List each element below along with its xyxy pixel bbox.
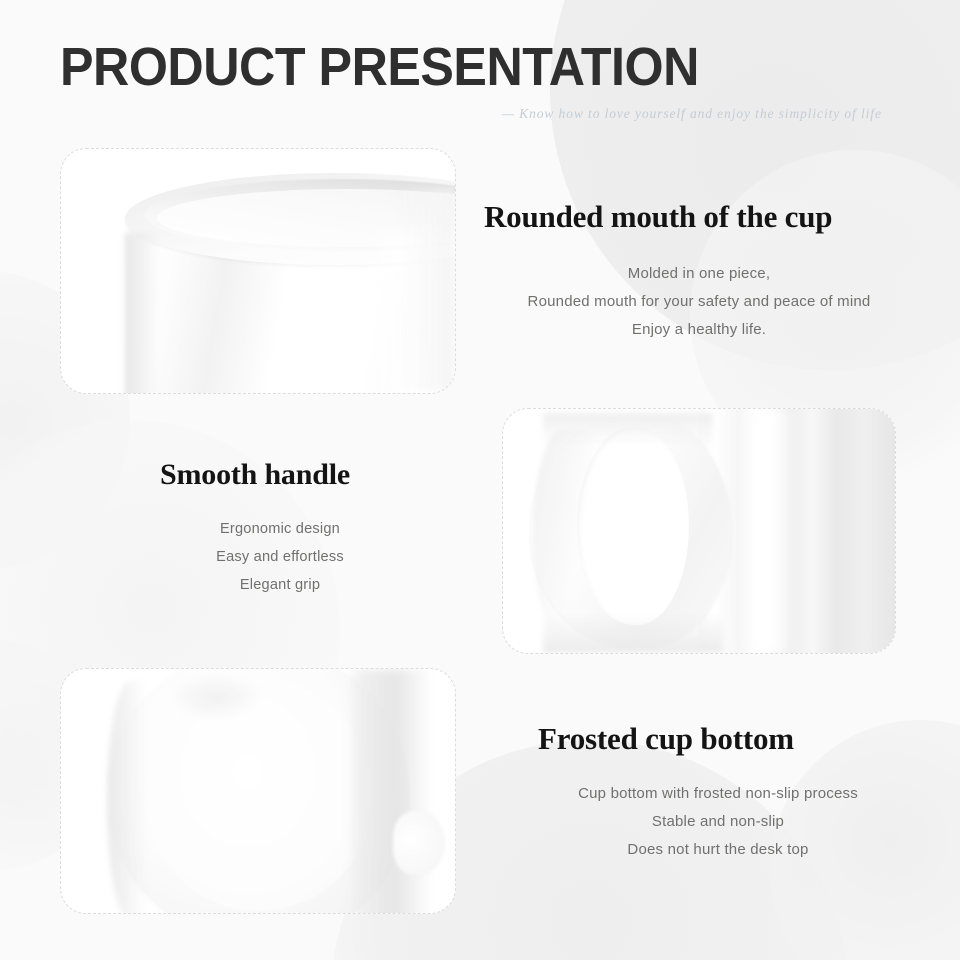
feature-text-frosted-bottom: Frosted cup bottom Cup bottom with frost… [538, 722, 898, 864]
feature-line: Molded in one piece, [484, 260, 914, 288]
feature-description-rounded-mouth: Molded in one piece, Rounded mouth for y… [484, 260, 914, 344]
mug-handle-closeup-photo [503, 409, 895, 653]
feature-image-frame-frosted-bottom [60, 668, 456, 914]
mug-bottom-right-shade [353, 669, 429, 914]
feature-image-frame-smooth-handle [502, 408, 896, 654]
mug-bottom-texture [171, 675, 261, 719]
feature-line: Does not hurt the desk top [538, 836, 898, 864]
mug-handle-opening [577, 427, 689, 625]
mug-rim-closeup-photo [61, 149, 455, 393]
feature-text-rounded-mouth: Rounded mouth of the cup Molded in one p… [484, 200, 914, 344]
mug-bottom-left-shade [107, 681, 153, 914]
mug-body-gloss [739, 409, 799, 653]
feature-line: Stable and non-slip [538, 808, 898, 836]
mug-left-shading [125, 233, 159, 394]
feature-line: Cup bottom with frosted non-slip process [538, 780, 898, 808]
feature-line: Ergonomic design [160, 515, 400, 543]
feature-title-smooth-handle: Smooth handle [160, 458, 400, 491]
feature-title-rounded-mouth: Rounded mouth of the cup [484, 200, 914, 234]
feature-line: Rounded mouth for your safety and peace … [484, 288, 914, 316]
feature-text-smooth-handle: Smooth handle Ergonomic design Easy and … [160, 458, 400, 599]
feature-line: Easy and effortless [160, 543, 400, 571]
feature-image-frame-rounded-mouth [60, 148, 456, 394]
feature-description-frosted-bottom: Cup bottom with frosted non-slip process… [538, 780, 898, 864]
mug-bottom-frosted-area [145, 679, 373, 911]
page-title: PRODUCT PRESENTATION [60, 40, 824, 94]
mug-bottom-closeup-photo [61, 669, 455, 913]
page-subtitle: — Know how to love yourself and enjoy th… [502, 106, 882, 122]
feature-line: Elegant grip [160, 571, 400, 599]
feature-line: Enjoy a healthy life. [484, 316, 914, 344]
feature-title-frosted-bottom: Frosted cup bottom [538, 722, 898, 756]
header: PRODUCT PRESENTATION — Know how to love … [60, 40, 882, 122]
mug-handle-edge-shade [533, 429, 593, 639]
mug-handle-stub [393, 811, 445, 875]
mug-right-shading [395, 189, 455, 389]
mug-handle-bottom-shade [543, 613, 723, 653]
feature-description-smooth-handle: Ergonomic design Easy and effortless Ele… [160, 515, 400, 599]
mug-handle-top-shade [543, 413, 713, 447]
